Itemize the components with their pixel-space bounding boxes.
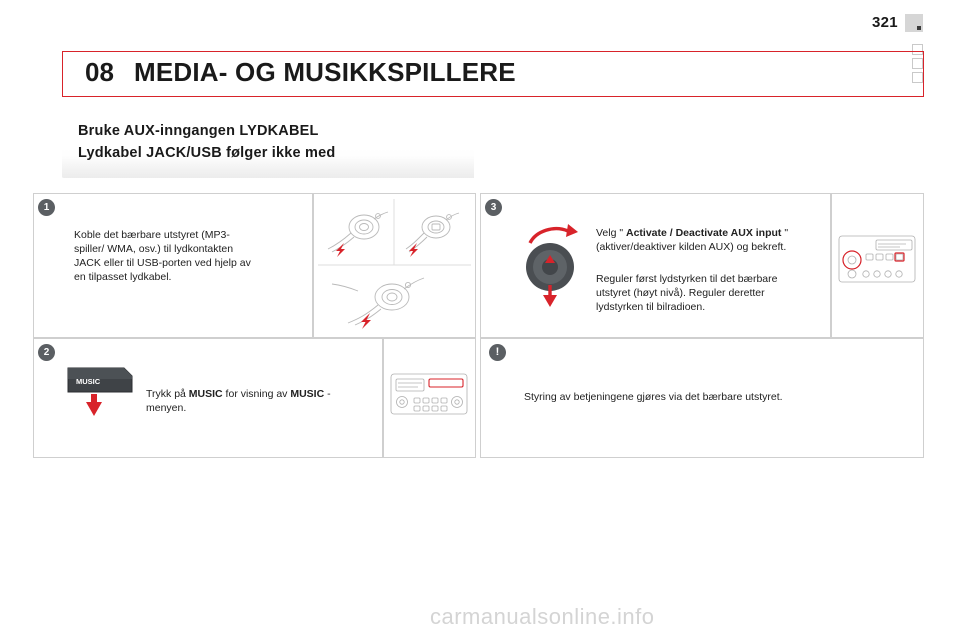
- warning-icon: !: [489, 344, 506, 361]
- step-3-paragraph-1: Velg " Activate / Deactivate AUX input "…: [596, 226, 796, 254]
- step-3-p1-before: Velg ": [596, 227, 626, 239]
- side-marker-square-3: [912, 72, 923, 83]
- car-radio-panel-illustration-3: [836, 230, 919, 300]
- title-right-edge: [923, 51, 924, 97]
- rotary-knob-illustration: [512, 215, 592, 315]
- title-rule-bottom: [62, 96, 924, 97]
- step-2-text-bold: MUSIC: [189, 388, 223, 400]
- step-badge-2-label: 2: [44, 348, 50, 358]
- subtitle-line-1: Bruke AUX-inngangen LYDKABEL: [78, 123, 319, 139]
- chapter-number: 08: [85, 57, 114, 88]
- music-button-label: MUSIC: [76, 377, 101, 386]
- side-marker-square-2: [912, 58, 923, 69]
- step-badge-3: 3: [485, 199, 502, 216]
- page-number: 321: [872, 14, 898, 31]
- car-radio-panel-illustration-2: [388, 368, 471, 428]
- title-left-edge: [62, 51, 63, 97]
- step-2-text: Trykk på MUSIC for visning av MUSIC -men…: [146, 387, 346, 415]
- step-badge-1: 1: [38, 199, 55, 216]
- page-title: MEDIA- OG MUSIKKSPILLERE: [134, 57, 516, 88]
- step-badge-2: 2: [38, 344, 55, 361]
- title-rule-top: [62, 51, 924, 52]
- side-marker-square-1: [912, 44, 923, 55]
- step-3-paragraph-2: Reguler først lydstyrken til det bærbare…: [596, 272, 801, 314]
- step-1-text: Koble det bærbare utstyret (MP3-spiller/…: [74, 228, 254, 284]
- subtitle-line-2: Lydkabel JACK/USB følger ikke med: [78, 145, 335, 161]
- step-2-text-middle: for visning av: [223, 388, 291, 400]
- step-2-text-before: Trykk på: [146, 388, 189, 400]
- watermark: carmanualsonline.info: [430, 604, 655, 630]
- jack-usb-illustration: [318, 199, 471, 332]
- corner-marker-dot: [917, 26, 921, 30]
- step-2-text-bold-2: MUSIC: [290, 388, 324, 400]
- step-3-p1-bold: Activate / Deactivate AUX input: [626, 227, 781, 239]
- note-text: Styring av betjeningene gjøres via det b…: [524, 390, 904, 404]
- music-button-illustration: MUSIC: [66, 366, 138, 418]
